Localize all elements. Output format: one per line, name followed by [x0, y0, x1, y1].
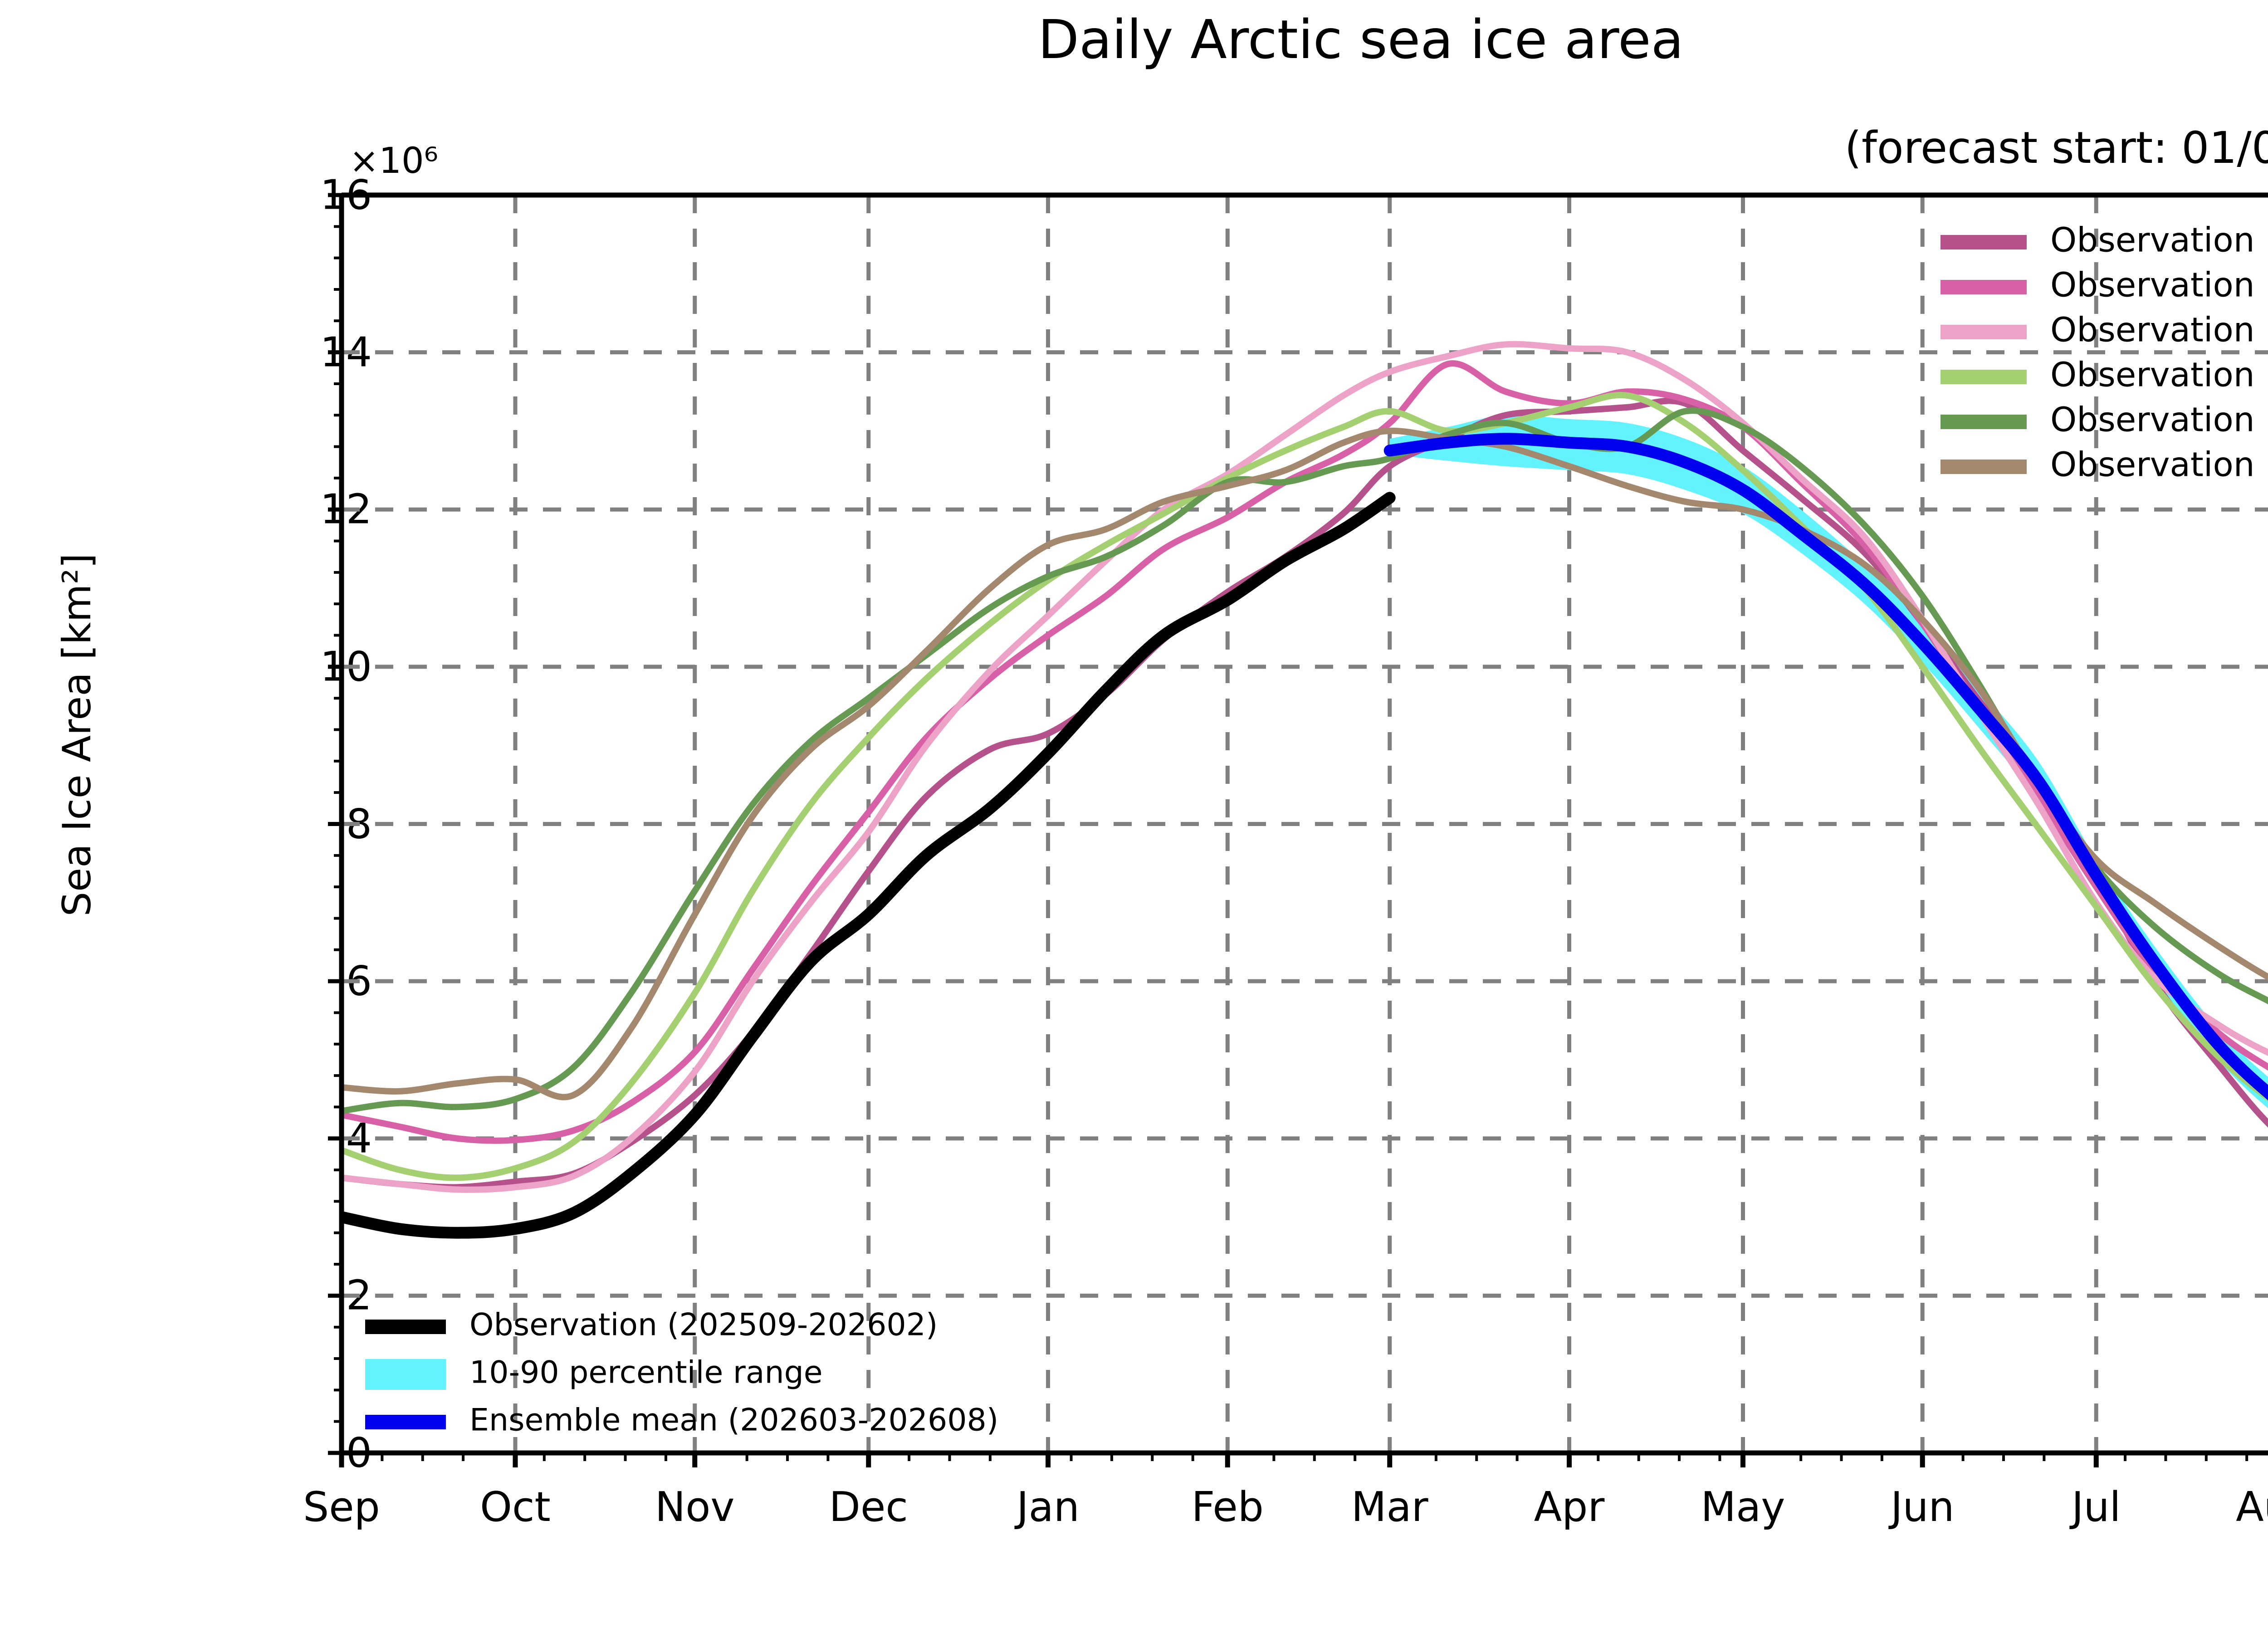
legend-swatch-line: [1941, 460, 2027, 474]
legend-label: Observation (202509-202602): [469, 1307, 938, 1343]
legend-label: Observation (2020-2021): [2050, 311, 2268, 350]
legend-label: Observation (1995-1996): [2050, 445, 2268, 484]
legend-label: Observation (2015-2016): [2050, 356, 2268, 395]
plot-canvas: Observation (2024-2025)Observation (2022…: [0, 0, 2268, 1633]
legend-top-item-5[interactable]: Observation (1995-1996): [1941, 445, 2268, 484]
legend-swatch-line: [1941, 370, 2027, 384]
legend-swatch-line: [1941, 325, 2027, 339]
legend-bottom-item-1[interactable]: 10-90 percentile range: [365, 1355, 823, 1391]
legend-top-item-2[interactable]: Observation (2020-2021): [1941, 311, 2268, 350]
axis-ticks: [328, 195, 2268, 1467]
legend-top-item-4[interactable]: Observation (2005-2006): [1941, 401, 2268, 440]
legend-swatch-patch: [365, 1359, 446, 1390]
legend-label: Observation (2024-2025): [2050, 221, 2268, 260]
legend-swatch-line: [365, 1415, 446, 1429]
series-line-6: [342, 498, 1390, 1232]
legend-label: Observation (2022-2023): [2050, 266, 2268, 305]
series-line-3: [342, 395, 2268, 1178]
legend-label: 10-90 percentile range: [469, 1355, 823, 1391]
legend-label: Ensemble mean (202603-202608): [469, 1403, 998, 1438]
legend-swatch-line: [1941, 280, 2027, 294]
legend-top-item-3[interactable]: Observation (2015-2016): [1941, 356, 2268, 395]
legend-swatch-line: [1941, 415, 2027, 429]
percentile-band: [1390, 415, 2268, 1221]
legend-swatch-line: [1941, 235, 2027, 249]
legend-top-item-0[interactable]: Observation (2024-2025): [1941, 221, 2268, 260]
chart-figure: Daily Arctic sea ice area (forecast star…: [0, 0, 2268, 1633]
legend-top-item-1[interactable]: Observation (2022-2023): [1941, 266, 2268, 305]
legend-label: Observation (2005-2006): [2050, 401, 2268, 440]
legend-bottom-item-2[interactable]: Ensemble mean (202603-202608): [365, 1403, 998, 1438]
legend-swatch-line: [365, 1320, 446, 1334]
series-lines: [342, 344, 2268, 1233]
legend-bottom-item-0[interactable]: Observation (202509-202602): [365, 1307, 938, 1343]
legend-bottom[interactable]: Observation (202509-202602)10-90 percent…: [365, 1307, 998, 1438]
series-line-4: [342, 411, 2268, 1111]
